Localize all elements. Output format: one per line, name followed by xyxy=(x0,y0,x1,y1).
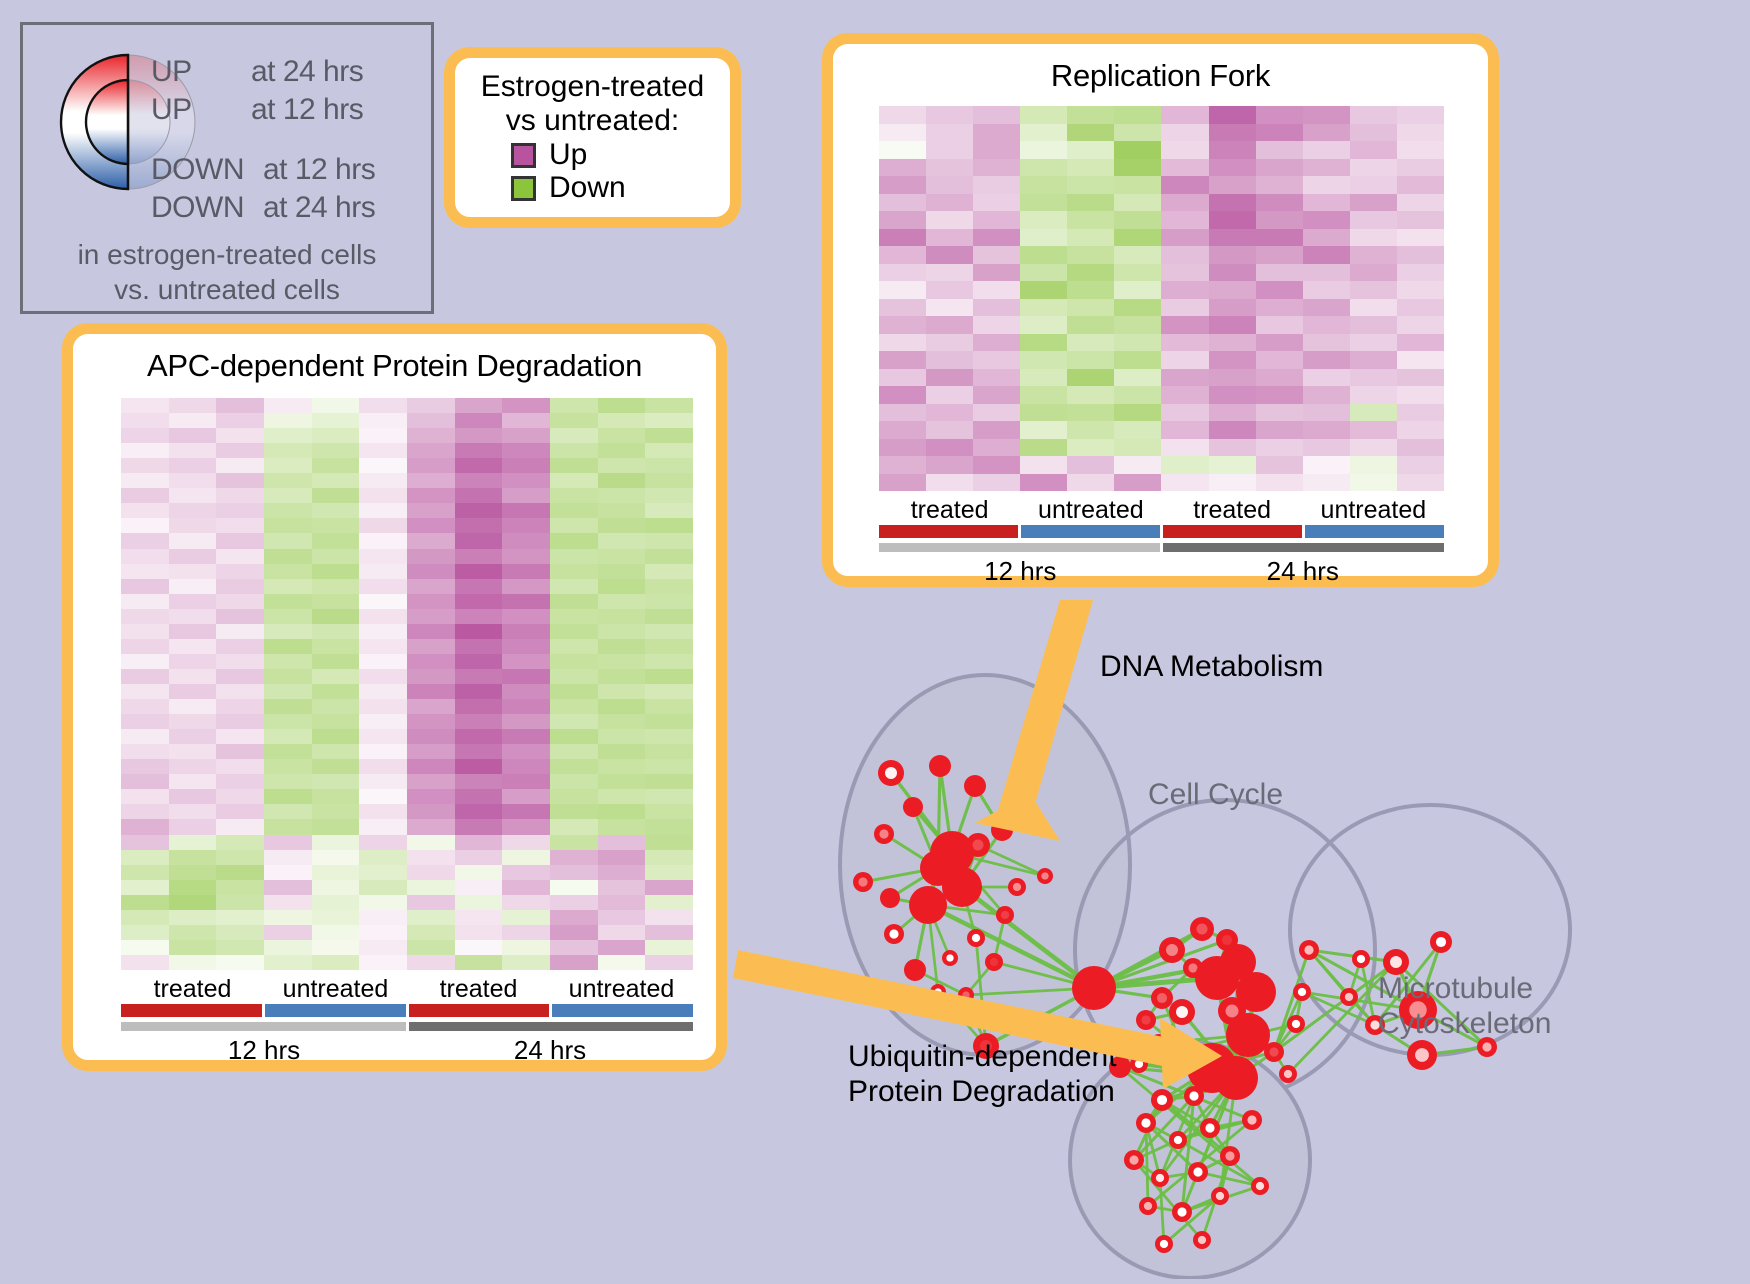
heatmap-cell xyxy=(312,895,360,910)
heatmap-cell xyxy=(598,835,646,850)
heatmap-cell xyxy=(1350,246,1397,264)
heatmap-cell xyxy=(502,549,550,564)
heatmap-cell xyxy=(1350,404,1397,422)
heatmap-cell xyxy=(1303,246,1350,264)
heatmap-cell xyxy=(121,488,169,503)
heatmap-cell xyxy=(169,594,217,609)
heatmap-cell xyxy=(502,443,550,458)
heatmap-cell xyxy=(407,624,455,639)
apc-group-labels: treateduntreatedtreateduntreated xyxy=(121,975,693,1004)
heatmap-cell xyxy=(216,789,264,804)
heatmap-cell xyxy=(1256,124,1303,142)
heatmap-cell xyxy=(502,895,550,910)
heatmap-cell xyxy=(550,549,598,564)
heatmap-cell xyxy=(502,744,550,759)
heatmap-cell xyxy=(312,925,360,940)
heatmap-cell xyxy=(1020,474,1067,492)
heatmap-cell xyxy=(502,925,550,940)
heatmap-cell xyxy=(598,955,646,970)
heatmap-cell xyxy=(407,579,455,594)
heatmap-cell xyxy=(502,579,550,594)
heatmap-cell xyxy=(550,744,598,759)
heatmap-cell xyxy=(407,804,455,819)
heatmap-cell xyxy=(1020,106,1067,124)
heatmap-cell xyxy=(455,925,503,940)
heatmap-cell xyxy=(407,759,455,774)
heatmap-cell xyxy=(926,106,973,124)
heatmap-cell xyxy=(550,624,598,639)
network-node-core xyxy=(1160,1240,1168,1248)
heatmap-cell xyxy=(359,865,407,880)
heatmap-cell xyxy=(312,398,360,413)
group-label: treated xyxy=(879,496,1020,525)
heatmap-cell xyxy=(216,609,264,624)
heatmap-cell xyxy=(455,699,503,714)
apc-heatmap xyxy=(121,398,693,970)
heatmap-cell xyxy=(407,865,455,880)
heatmap-cell xyxy=(550,654,598,669)
heatmap-cell xyxy=(973,246,1020,264)
heatmap-cell xyxy=(1350,421,1397,439)
heatmap-cell xyxy=(264,714,312,729)
heatmap-cell xyxy=(359,579,407,594)
heatmap-cell xyxy=(550,865,598,880)
heatmap-cell xyxy=(1256,246,1303,264)
heatmap-cell xyxy=(1067,159,1114,177)
heatmap-cell xyxy=(1161,141,1208,159)
heatmap-cell xyxy=(502,669,550,684)
heatmap-cell xyxy=(502,398,550,413)
heatmap-cell xyxy=(1161,439,1208,457)
heatmap-cell xyxy=(359,699,407,714)
heatmap-cell xyxy=(598,503,646,518)
heatmap-cell xyxy=(264,579,312,594)
ring-label-up-12: UP xyxy=(151,93,192,127)
heatmap-cell xyxy=(1256,439,1303,457)
heatmap-cell xyxy=(645,729,693,744)
heatmap-cell xyxy=(879,229,926,247)
replication-group-labels: treateduntreatedtreateduntreated xyxy=(879,496,1444,525)
heatmap-cell xyxy=(645,473,693,488)
heatmap-cell xyxy=(1114,316,1161,334)
heatmap-cell xyxy=(1397,141,1444,159)
heatmap-cell xyxy=(121,609,169,624)
heatmap-cell xyxy=(645,594,693,609)
heatmap-cell xyxy=(312,850,360,865)
label-microtubule-line1: Microtubule xyxy=(1378,972,1551,1007)
time-label: 12 hrs xyxy=(121,1031,407,1066)
heatmap-cell xyxy=(879,211,926,229)
label-dna-metabolism: DNA Metabolism xyxy=(1100,650,1323,684)
heatmap-cell xyxy=(1161,369,1208,387)
heatmap-cell xyxy=(550,850,598,865)
heatmap-cell xyxy=(879,351,926,369)
heatmap-cell xyxy=(359,744,407,759)
heatmap-cell xyxy=(121,774,169,789)
heatmap-cell xyxy=(1067,439,1114,457)
heatmap-cell xyxy=(312,729,360,744)
heatmap-cell xyxy=(926,264,973,282)
heatmap-cell xyxy=(312,744,360,759)
heatmap-cell xyxy=(312,759,360,774)
heatmap-cell xyxy=(973,194,1020,212)
up-legend-label: Up xyxy=(549,140,587,170)
heatmap-cell xyxy=(1350,386,1397,404)
heatmap-cell xyxy=(645,549,693,564)
heatmap-cell xyxy=(1256,159,1303,177)
heatmap-cell xyxy=(1114,159,1161,177)
heatmap-cell xyxy=(598,744,646,759)
heatmap-cell xyxy=(169,699,217,714)
pathway-network-diagram: DNA Metabolism Cell Cycle Microtubule Cy… xyxy=(790,600,1750,1279)
heatmap-cell xyxy=(264,865,312,880)
heatmap-cell xyxy=(1020,124,1067,142)
heatmap-cell xyxy=(312,774,360,789)
heatmap-cell xyxy=(455,594,503,609)
heatmap-cell xyxy=(973,211,1020,229)
heatmap-cell xyxy=(550,518,598,533)
heatmap-cell xyxy=(312,910,360,925)
network-node-core xyxy=(885,767,897,779)
heatmap-cell xyxy=(121,925,169,940)
heatmap-cell xyxy=(1067,229,1114,247)
heatmap-cell xyxy=(121,564,169,579)
heatmap-cell xyxy=(312,624,360,639)
heatmap-cell xyxy=(1067,106,1114,124)
heatmap-cell xyxy=(1161,421,1208,439)
heatmap-cell xyxy=(502,835,550,850)
heatmap-cell xyxy=(645,699,693,714)
heatmap-cell xyxy=(926,229,973,247)
heatmap-cell xyxy=(1067,194,1114,212)
heatmap-cell xyxy=(1020,246,1067,264)
heatmap-cell xyxy=(1067,474,1114,492)
heatmap-cell xyxy=(359,443,407,458)
heatmap-cell xyxy=(169,925,217,940)
heatmap-cell xyxy=(121,910,169,925)
heatmap-cell xyxy=(1020,369,1067,387)
heatmap-cell xyxy=(1209,124,1256,142)
heatmap-cell xyxy=(973,281,1020,299)
heatmap-cell xyxy=(169,774,217,789)
network-node xyxy=(880,888,900,908)
heatmap-cell xyxy=(550,458,598,473)
heatmap-cell xyxy=(598,458,646,473)
heatmap-cell xyxy=(407,533,455,548)
heatmap-cell xyxy=(359,925,407,940)
heatmap-cell xyxy=(1397,211,1444,229)
heatmap-cell xyxy=(121,428,169,443)
heatmap-cell xyxy=(407,473,455,488)
heatmap-cell xyxy=(550,940,598,955)
heatmap-cell xyxy=(169,533,217,548)
heatmap-cell xyxy=(1114,246,1161,264)
heatmap-cell xyxy=(1397,281,1444,299)
heatmap-cell xyxy=(407,955,455,970)
heatmap-cell xyxy=(169,729,217,744)
heatmap-cell xyxy=(169,895,217,910)
time-bar xyxy=(409,1022,694,1031)
heatmap-cell xyxy=(973,386,1020,404)
heatmap-cell xyxy=(121,850,169,865)
heatmap-cell xyxy=(216,488,264,503)
heatmap-cell xyxy=(1256,386,1303,404)
heatmap-cell xyxy=(1067,456,1114,474)
heatmap-cell xyxy=(973,299,1020,317)
heatmap-cell xyxy=(455,458,503,473)
heatmap-cell xyxy=(973,421,1020,439)
heatmap-cell xyxy=(598,865,646,880)
heatmap-cell xyxy=(1303,369,1350,387)
heatmap-cell xyxy=(264,413,312,428)
heatmap-cell xyxy=(359,609,407,624)
heatmap-cell xyxy=(502,533,550,548)
heatmap-cell xyxy=(264,473,312,488)
heatmap-cell xyxy=(1067,316,1114,334)
heatmap-cell xyxy=(926,404,973,422)
heatmap-cell xyxy=(879,369,926,387)
heatmap-cell xyxy=(169,503,217,518)
heatmap-cell xyxy=(973,474,1020,492)
heatmap-cell xyxy=(645,458,693,473)
heatmap-cell xyxy=(121,880,169,895)
heatmap-cell xyxy=(407,714,455,729)
heatmap-cell xyxy=(407,488,455,503)
group-bar xyxy=(1305,525,1444,538)
heatmap-cell xyxy=(407,654,455,669)
heatmap-cell xyxy=(121,744,169,759)
heatmap-cell xyxy=(169,669,217,684)
heatmap-cell xyxy=(216,895,264,910)
heatmap-cell xyxy=(216,549,264,564)
heatmap-cell xyxy=(216,413,264,428)
network-node-core xyxy=(1222,935,1232,945)
heatmap-cell xyxy=(216,714,264,729)
heatmap-cell xyxy=(121,533,169,548)
heatmap-cell xyxy=(1114,176,1161,194)
heatmap-cell xyxy=(407,609,455,624)
heatmap-cell xyxy=(121,669,169,684)
heatmap-cell xyxy=(312,699,360,714)
heatmap-cell xyxy=(407,503,455,518)
heatmap-cell xyxy=(264,940,312,955)
heatmap-cell xyxy=(1350,334,1397,352)
network-node-core xyxy=(889,929,898,938)
heatmap-cell xyxy=(455,443,503,458)
network-node-core xyxy=(1284,1070,1292,1078)
heatmap-cell xyxy=(1020,421,1067,439)
time-label: 24 hrs xyxy=(407,1031,693,1066)
heatmap-cell xyxy=(550,925,598,940)
heatmap-cell xyxy=(926,281,973,299)
ring-sublabel-down-12: at 12 hrs xyxy=(263,153,375,187)
heatmap-cell xyxy=(264,925,312,940)
network-node-core xyxy=(1226,1005,1239,1018)
heatmap-cell xyxy=(1067,246,1114,264)
heatmap-cell xyxy=(973,141,1020,159)
heatmap-cell xyxy=(973,369,1020,387)
heatmap-cell xyxy=(169,684,217,699)
heatmap-cell xyxy=(879,106,926,124)
heatmap-cell xyxy=(550,819,598,834)
heatmap-cell xyxy=(216,503,264,518)
heatmap-cell xyxy=(645,413,693,428)
network-node-core xyxy=(1166,944,1178,956)
heatmap-cell xyxy=(926,194,973,212)
heatmap-cell xyxy=(926,421,973,439)
heatmap-cell xyxy=(359,850,407,865)
heatmap-cell xyxy=(1161,264,1208,282)
ring-legend-footer-line2: vs. untreated cells xyxy=(23,272,431,307)
heatmap-cell xyxy=(1209,106,1256,124)
heatmap-cell xyxy=(264,669,312,684)
heatmap-cell xyxy=(598,473,646,488)
heatmap-cell xyxy=(264,609,312,624)
heatmap-cell xyxy=(598,639,646,654)
heatmap-cell xyxy=(455,579,503,594)
heatmap-cell xyxy=(645,804,693,819)
heatmap-cell xyxy=(1020,334,1067,352)
heatmap-cell xyxy=(1161,404,1208,422)
heatmap-cell xyxy=(598,533,646,548)
heatmap-cell xyxy=(1397,369,1444,387)
heatmap-cell xyxy=(502,654,550,669)
heatmap-cell xyxy=(502,865,550,880)
heatmap-cell xyxy=(121,503,169,518)
updown-heading-line1: Estrogen-treated xyxy=(455,70,730,104)
network-node-core xyxy=(1205,1123,1214,1132)
heatmap-cell xyxy=(216,774,264,789)
heatmap-cell xyxy=(550,880,598,895)
network-edge xyxy=(1146,1123,1148,1206)
heatmap-cell xyxy=(216,594,264,609)
heatmap-cell xyxy=(1161,159,1208,177)
network-node xyxy=(991,819,1013,841)
network-node-core xyxy=(1181,1048,1189,1056)
heatmap-cell xyxy=(264,458,312,473)
heatmap-cell xyxy=(1161,281,1208,299)
heatmap-cell xyxy=(312,533,360,548)
heatmap-cell xyxy=(1067,124,1114,142)
heatmap-cell xyxy=(359,789,407,804)
heatmap-cell xyxy=(502,729,550,744)
heatmap-cell xyxy=(645,835,693,850)
heatmap-cell xyxy=(1020,194,1067,212)
heatmap-cell xyxy=(312,714,360,729)
heatmap-cell xyxy=(926,176,973,194)
heatmap-cell xyxy=(312,413,360,428)
heatmap-cell xyxy=(598,789,646,804)
heatmap-cell xyxy=(455,759,503,774)
heatmap-cell xyxy=(1350,264,1397,282)
heatmap-cell xyxy=(502,488,550,503)
heatmap-cell xyxy=(312,518,360,533)
heatmap-cell xyxy=(169,609,217,624)
heatmap-cell xyxy=(169,579,217,594)
heatmap-cell xyxy=(879,246,926,264)
heatmap-cell xyxy=(926,159,973,177)
heatmap-cell xyxy=(121,895,169,910)
ring-sublabel-up-12: at 12 hrs xyxy=(251,93,363,127)
heatmap-cell xyxy=(926,474,973,492)
heatmap-cell xyxy=(1303,281,1350,299)
heatmap-cell xyxy=(1350,474,1397,492)
heatmap-cell xyxy=(645,910,693,925)
heatmap-cell xyxy=(1209,299,1256,317)
heatmap-cell xyxy=(169,639,217,654)
heatmap-cell xyxy=(1067,351,1114,369)
heatmap-cell xyxy=(1303,176,1350,194)
heatmap-cell xyxy=(407,639,455,654)
heatmap-cell xyxy=(1303,421,1350,439)
heatmap-cell xyxy=(598,940,646,955)
heatmap-cell xyxy=(1350,211,1397,229)
heatmap-cell xyxy=(502,564,550,579)
heatmap-cell xyxy=(1020,281,1067,299)
heatmap-cell xyxy=(169,443,217,458)
heatmap-cell xyxy=(550,684,598,699)
heatmap-cell xyxy=(645,533,693,548)
heatmap-cell xyxy=(502,940,550,955)
heatmap-cell xyxy=(1350,439,1397,457)
ring-sublabel-up-24: at 24 hrs xyxy=(251,55,363,89)
heatmap-cell xyxy=(216,624,264,639)
heatmap-cell xyxy=(455,488,503,503)
heatmap-cell xyxy=(645,669,693,684)
heatmap-cell xyxy=(359,564,407,579)
heatmap-cell xyxy=(407,835,455,850)
heatmap-cell xyxy=(973,439,1020,457)
heatmap-cell xyxy=(1350,299,1397,317)
heatmap-cell xyxy=(169,654,217,669)
replication-fork-panel: Replication Fork treateduntreatedtreated… xyxy=(822,33,1499,587)
heatmap-cell xyxy=(1209,229,1256,247)
network-node-core xyxy=(1129,1155,1138,1164)
network-node-core xyxy=(1144,1202,1152,1210)
heatmap-cell xyxy=(359,729,407,744)
heatmap-cell xyxy=(926,211,973,229)
heatmap-cell xyxy=(312,609,360,624)
heatmap-cell xyxy=(598,699,646,714)
heatmap-cell xyxy=(264,503,312,518)
heatmap-cell xyxy=(121,624,169,639)
heatmap-cell xyxy=(169,398,217,413)
apc-group-bars xyxy=(121,1004,693,1017)
heatmap-cell xyxy=(216,669,264,684)
heatmap-cell xyxy=(645,774,693,789)
heatmap-cell xyxy=(1161,334,1208,352)
heatmap-cell xyxy=(407,819,455,834)
heatmap-cell xyxy=(550,564,598,579)
heatmap-cell xyxy=(502,850,550,865)
ring-sublabel-down-24: at 24 hrs xyxy=(263,191,375,225)
heatmap-cell xyxy=(455,473,503,488)
heatmap-cell xyxy=(455,714,503,729)
heatmap-cell xyxy=(598,895,646,910)
heatmap-cell xyxy=(455,819,503,834)
heatmap-cell xyxy=(216,654,264,669)
heatmap-cell xyxy=(1067,386,1114,404)
heatmap-cell xyxy=(1303,229,1350,247)
heatmap-cell xyxy=(1114,369,1161,387)
heatmap-cell xyxy=(1397,176,1444,194)
heatmap-cell xyxy=(1397,334,1444,352)
heatmap-cell xyxy=(1397,386,1444,404)
heatmap-cell xyxy=(598,488,646,503)
heatmap-cell xyxy=(121,639,169,654)
heatmap-cell xyxy=(455,639,503,654)
heatmap-cell xyxy=(1161,299,1208,317)
